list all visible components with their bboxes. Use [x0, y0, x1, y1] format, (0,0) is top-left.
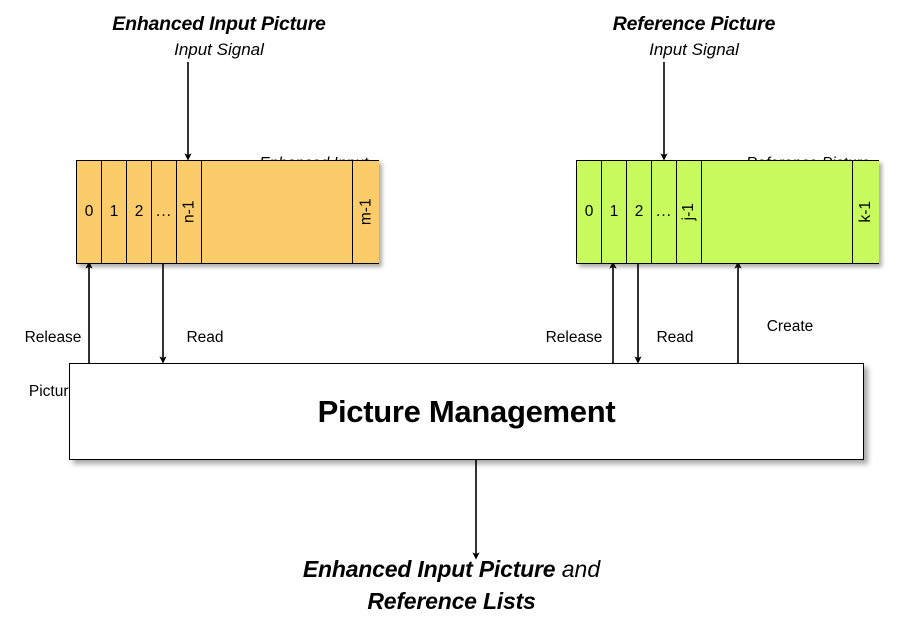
buffer-cell-label: 0	[85, 204, 94, 220]
buffer-cell[interactable]: 0	[577, 161, 602, 263]
output-line-2: Reference Lists	[0, 588, 903, 615]
buffer-cell-label: j-1	[681, 203, 697, 220]
enhanced-input-subtitle: Input Signal	[79, 40, 359, 59]
buffer-cell[interactable]: j-1	[677, 161, 702, 263]
buffer-cell-label: ...	[156, 204, 172, 220]
picture-management-box[interactable]: Picture Management	[69, 363, 864, 460]
read-picture-left-line1: Read	[166, 329, 244, 347]
enhanced-input-picture-buffer[interactable]: 012...n-1m-1	[76, 160, 379, 264]
buffer-cell[interactable]: 1	[102, 161, 127, 263]
read-picture-right-line1: Read	[640, 329, 710, 347]
buffer-cell[interactable]: n-1	[177, 161, 202, 263]
release-picture-left-line1: Release	[12, 329, 94, 347]
buffer-cell[interactable]: m-1	[353, 161, 379, 263]
buffer-cell-label: 2	[135, 204, 144, 220]
reference-input-subtitle: Input Signal	[554, 40, 834, 59]
buffer-cell-label: 1	[610, 204, 619, 220]
buffer-cell-label: n-1	[181, 201, 197, 223]
diagram-canvas: Enhanced Input Picture Input Signal Refe…	[0, 0, 903, 630]
reference-input-title: Reference Picture	[554, 14, 834, 36]
output-line-1: Enhanced Input Picture and	[0, 556, 903, 583]
buffer-cell[interactable]	[202, 161, 353, 263]
picture-management-label: Picture Management	[318, 394, 616, 430]
buffer-cell[interactable]: 0	[77, 161, 102, 263]
buffer-cell[interactable]: 2	[127, 161, 152, 263]
buffer-cell[interactable]: ...	[152, 161, 177, 263]
enhanced-input-title: Enhanced Input Picture	[79, 14, 359, 36]
output-conjunction: and	[555, 556, 600, 582]
buffer-cell[interactable]: k-1	[853, 161, 879, 263]
reference-picture-buffer[interactable]: 012...j-1k-1	[576, 160, 879, 264]
buffer-cell-label: 0	[585, 204, 594, 220]
buffer-cell[interactable]	[702, 161, 853, 263]
buffer-cell-label: 2	[635, 204, 644, 220]
buffer-cell-label: m-1	[358, 199, 374, 226]
buffer-cell[interactable]: 2	[627, 161, 652, 263]
buffer-cell-label: 1	[110, 204, 119, 220]
buffer-cell-label: k-1	[858, 201, 874, 223]
buffer-cell[interactable]: 1	[602, 161, 627, 263]
release-picture-right-line1: Release	[534, 329, 614, 347]
output-emphasis: Enhanced Input Picture	[303, 556, 555, 582]
create-reference-entry-line1: Create	[740, 318, 840, 336]
buffer-cell[interactable]: ...	[652, 161, 677, 263]
buffer-cell-label: ...	[656, 204, 672, 220]
output-second-line: Reference Lists	[367, 588, 535, 614]
